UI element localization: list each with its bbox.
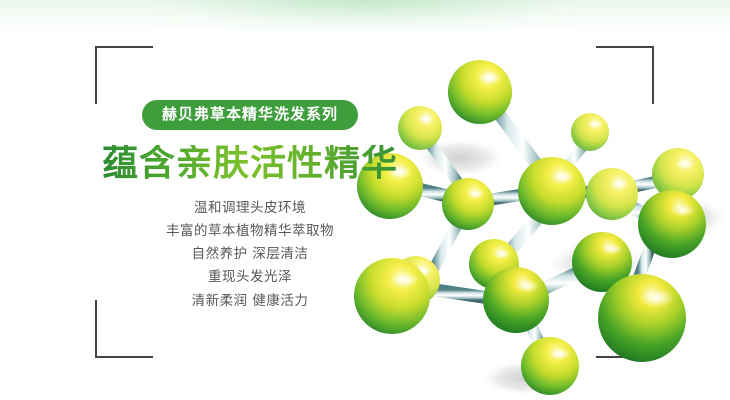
feature-line: 重现头发光泽: [95, 266, 405, 289]
atom: [571, 113, 609, 151]
atom: [483, 267, 549, 333]
atom: [521, 337, 579, 395]
promo-text-block: 赫贝弗草本精华洗发系列 蕴含亲肤活性精华 温和调理头皮环境 丰富的草本植物精华萃…: [95, 100, 405, 313]
feature-line: 丰富的草本植物精华萃取物: [95, 220, 405, 243]
series-badge: 赫贝弗草本精华洗发系列: [142, 100, 358, 130]
headline: 蕴含亲肤活性精华: [95, 145, 405, 183]
atom: [448, 60, 512, 124]
feature-line: 清新柔润 健康活力: [95, 290, 405, 313]
feature-list: 温和调理头皮环境 丰富的草本植物精华萃取物 自然养护 深层清洁 重现头发光泽 清…: [95, 197, 405, 313]
feature-line: 自然养护 深层清洁: [95, 243, 405, 266]
atom: [586, 168, 638, 220]
feature-line: 温和调理头皮环境: [95, 197, 405, 220]
atom: [442, 178, 494, 230]
corner-bracket-top-left: [95, 46, 153, 104]
atom: [598, 274, 686, 362]
shampoo-promo-banner: 赫贝弗草本精华洗发系列 蕴含亲肤活性精华 温和调理头皮环境 丰富的草本植物精华萃…: [0, 0, 730, 400]
molecule-illustration: [352, 28, 730, 400]
atom: [518, 157, 586, 225]
atom: [638, 190, 706, 258]
